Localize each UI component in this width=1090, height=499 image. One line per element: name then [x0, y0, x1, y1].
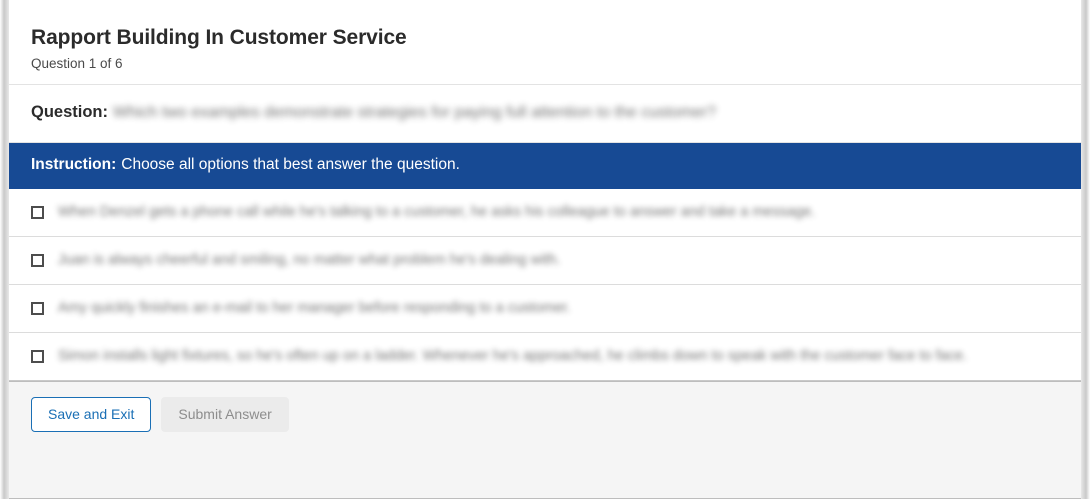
quiz-header: Rapport Building In Customer Service Que… [9, 0, 1081, 85]
answer-option-label-3: Amy quickly finishes an e-mail to her ma… [58, 300, 571, 316]
answer-option-1[interactable]: When Denzel gets a phone call while he's… [9, 189, 1081, 237]
checkbox-icon-2[interactable] [31, 254, 44, 267]
instruction-label: Instruction: [31, 156, 116, 175]
answer-options-list: When Denzel gets a phone call while he's… [9, 189, 1081, 381]
page-title: Rapport Building In Customer Service [31, 26, 1059, 50]
save-and-exit-button[interactable]: Save and Exit [31, 397, 151, 432]
answer-option-label-1: When Denzel gets a phone call while he's… [58, 204, 815, 220]
answer-option-4[interactable]: Simon installs light fixtures, so he's o… [9, 333, 1081, 381]
question-progress: Question 1 of 6 [31, 56, 1059, 72]
question-section: Question: Which two examples demonstrate… [9, 85, 1081, 143]
quiz-page: Rapport Building In Customer Service Que… [0, 0, 1090, 499]
page-gutter-left [0, 0, 9, 499]
page-gutter-right [1081, 0, 1090, 499]
answer-option-3[interactable]: Amy quickly finishes an e-mail to her ma… [9, 285, 1081, 333]
answer-option-label-4: Simon installs light fixtures, so he's o… [58, 348, 967, 364]
checkbox-icon-4[interactable] [31, 350, 44, 363]
instruction-banner: Instruction: Choose all options that bes… [9, 143, 1081, 189]
answer-option-2[interactable]: Juan is always cheerful and smiling, no … [9, 237, 1081, 285]
question-label: Question: [31, 103, 108, 122]
submit-answer-button[interactable]: Submit Answer [161, 397, 288, 432]
question-text: Which two examples demonstrate strategie… [113, 104, 716, 122]
checkbox-icon-1[interactable] [31, 206, 44, 219]
quiz-card: Rapport Building In Customer Service Que… [9, 0, 1081, 499]
answer-option-label-2: Juan is always cheerful and smiling, no … [58, 252, 560, 268]
instruction-text: Choose all options that best answer the … [121, 156, 460, 175]
checkbox-icon-3[interactable] [31, 302, 44, 315]
quiz-footer: Save and Exit Submit Answer [9, 381, 1081, 499]
